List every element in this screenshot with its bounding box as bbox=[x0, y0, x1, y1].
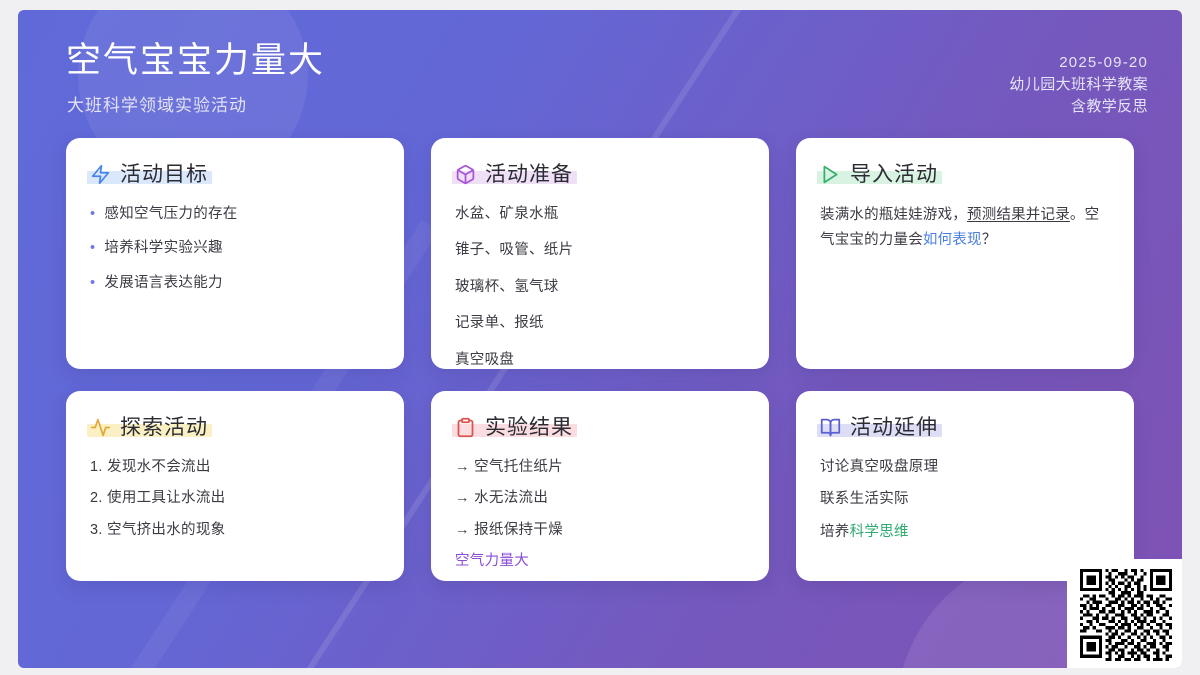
list-item-label: 培养科学实验兴趣 bbox=[104, 237, 222, 259]
header-meta: 2025-09-20 幼儿园大班科学教案 含教学反思 bbox=[1009, 52, 1148, 119]
clipboard-icon bbox=[455, 417, 476, 438]
exploration-list: 1. 发现水不会流出 2. 使用工具让水流出 3. 空气挤出水的现象 bbox=[90, 456, 380, 541]
card-exploration[interactable]: 探索活动 1. 发现水不会流出 2. 使用工具让水流出 3. 空气挤出水的现象 bbox=[66, 391, 404, 581]
list-item: •培养科学实验兴趣 bbox=[90, 237, 380, 259]
meta-note: 含教学反思 bbox=[1009, 96, 1148, 118]
card-header: 活动目标 bbox=[90, 164, 208, 185]
card-header: 活动准备 bbox=[455, 164, 573, 185]
introduction-paragraph: 装满水的瓶娃娃游戏，预测结果并记录。空气宝宝的力量会如何表现？ bbox=[820, 203, 1110, 253]
zap-icon bbox=[90, 164, 111, 185]
card-title: 活动延伸 bbox=[850, 417, 938, 438]
book-icon bbox=[820, 417, 841, 438]
card-preparation[interactable]: 活动准备 水盆、矿泉水瓶 锥子、吸管、纸片 玻璃杯、氢气球 记录单、报纸 真空吸… bbox=[431, 138, 769, 369]
card-header: 实验结果 bbox=[455, 417, 573, 438]
meta-category: 幼儿园大班科学教案 bbox=[1009, 74, 1148, 96]
list-item-prefix: 培养 bbox=[820, 524, 850, 540]
bullet-dot: • bbox=[90, 272, 95, 294]
list-item: 玻璃杯、氢气球 bbox=[455, 276, 745, 298]
objectives-list: •感知空气压力的存在 •培养科学实验兴趣 •发展语言表达能力 bbox=[90, 203, 380, 294]
extension-list: 讨论真空吸盘原理 联系生活实际 培养科学思维 bbox=[820, 456, 1110, 543]
para-underlined: 预测结果并记录 bbox=[967, 207, 1070, 223]
list-item-accent: 科学思维 bbox=[850, 524, 909, 540]
list-item: 水盆、矿泉水瓶 bbox=[455, 203, 745, 225]
bullet-dot: • bbox=[90, 237, 95, 259]
bullet-dot: • bbox=[90, 203, 95, 225]
list-item: 2. 使用工具让水流出 bbox=[90, 487, 380, 509]
qr-code[interactable] bbox=[1078, 569, 1174, 661]
list-item-label: 感知空气压力的存在 bbox=[104, 203, 237, 225]
qr-code-container[interactable] bbox=[1067, 559, 1182, 668]
list-item: → 报纸保持干燥 bbox=[455, 519, 745, 541]
meta-date: 2025-09-20 bbox=[1009, 52, 1148, 74]
para-link[interactable]: 如何表现 bbox=[923, 232, 982, 248]
list-item: 培养科学思维 bbox=[820, 521, 1110, 543]
card-title: 导入活动 bbox=[850, 164, 938, 185]
list-item: → 空气托住纸片 bbox=[455, 456, 745, 478]
para-seg-1: 装满水的瓶娃娃游戏， bbox=[820, 207, 967, 223]
poster-canvas: 空气宝宝力量大 大班科学领域实验活动 2025-09-20 幼儿园大班科学教案 … bbox=[18, 10, 1182, 668]
list-item-label: 发展语言表达能力 bbox=[104, 272, 222, 294]
card-header: 导入活动 bbox=[820, 164, 938, 185]
poster-header: 空气宝宝力量大 大班科学领域实验活动 2025-09-20 幼儿园大班科学教案 … bbox=[18, 10, 1182, 130]
list-item: 联系生活实际 bbox=[820, 488, 1110, 510]
card-objectives[interactable]: 活动目标 •感知空气压力的存在 •培养科学实验兴趣 •发展语言表达能力 bbox=[66, 138, 404, 369]
para-seg-5: ？ bbox=[982, 232, 997, 248]
card-header: 活动延伸 bbox=[820, 417, 938, 438]
card-introduction[interactable]: 导入活动 装满水的瓶娃娃游戏，预测结果并记录。空气宝宝的力量会如何表现？ bbox=[796, 138, 1134, 369]
list-item: 锥子、吸管、纸片 bbox=[455, 239, 745, 261]
list-item: 记录单、报纸 bbox=[455, 312, 745, 334]
page-title: 空气宝宝力量大 bbox=[66, 40, 1148, 82]
card-title: 探索活动 bbox=[120, 417, 208, 438]
results-list: → 空气托住纸片 → 水无法流出 → 报纸保持干燥 空气力量大 bbox=[455, 456, 745, 573]
list-item: → 水无法流出 bbox=[455, 487, 745, 509]
package-icon bbox=[455, 164, 476, 185]
card-header: 探索活动 bbox=[90, 417, 208, 438]
list-item: 真空吸盘 bbox=[455, 349, 745, 369]
list-item: 1. 发现水不会流出 bbox=[90, 456, 380, 478]
results-conclusion: 空气力量大 bbox=[455, 550, 745, 572]
play-icon bbox=[820, 164, 841, 185]
page-subtitle: 大班科学领域实验活动 bbox=[67, 91, 1148, 116]
list-item: •发展语言表达能力 bbox=[90, 272, 380, 294]
card-title: 实验结果 bbox=[485, 417, 573, 438]
card-title: 活动目标 bbox=[120, 164, 208, 185]
card-extension[interactable]: 活动延伸 讨论真空吸盘原理 联系生活实际 培养科学思维 bbox=[796, 391, 1134, 581]
activity-pulse-icon bbox=[90, 417, 111, 438]
list-item: 讨论真空吸盘原理 bbox=[820, 456, 1110, 478]
list-item: •感知空气压力的存在 bbox=[90, 203, 380, 225]
preparation-list: 水盆、矿泉水瓶 锥子、吸管、纸片 玻璃杯、氢气球 记录单、报纸 真空吸盘 bbox=[455, 203, 745, 369]
card-grid: 活动目标 •感知空气压力的存在 •培养科学实验兴趣 •发展语言表达能力 活动准备… bbox=[66, 138, 1134, 581]
list-item: 3. 空气挤出水的现象 bbox=[90, 519, 380, 541]
card-title: 活动准备 bbox=[485, 164, 573, 185]
card-results[interactable]: 实验结果 → 空气托住纸片 → 水无法流出 → 报纸保持干燥 空气力量大 bbox=[431, 391, 769, 581]
